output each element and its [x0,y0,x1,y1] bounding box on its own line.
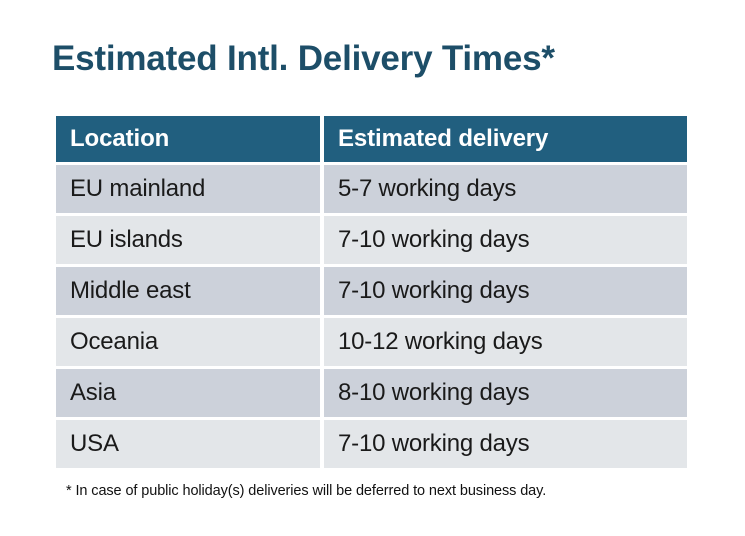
cell-location: Middle east [56,267,320,315]
cell-estimated-delivery: 8-10 working days [324,369,687,417]
cell-location: Oceania [56,318,320,366]
table-row: Middle east 7-10 working days [56,267,687,315]
column-header-location: Location [56,116,320,162]
column-header-estimated-delivery: Estimated delivery [324,116,687,162]
cell-location: USA [56,420,320,468]
table-row: Asia 8-10 working days [56,369,687,417]
cell-location: EU islands [56,216,320,264]
footnote: * In case of public holiday(s) deliverie… [66,482,546,500]
table-row: USA 7-10 working days [56,420,687,468]
table-body: EU mainland 5-7 working days EU islands … [56,165,687,468]
table-row: Oceania 10-12 working days [56,318,687,366]
cell-estimated-delivery: 7-10 working days [324,420,687,468]
cell-estimated-delivery: 7-10 working days [324,216,687,264]
page-title: Estimated Intl. Delivery Times* [52,38,555,80]
cell-estimated-delivery: 5-7 working days [324,165,687,213]
table-row: EU mainland 5-7 working days [56,165,687,213]
estimated-delivery-table: Location Estimated delivery EU mainland … [52,113,691,471]
cell-estimated-delivery: 7-10 working days [324,267,687,315]
table-header: Location Estimated delivery [56,116,687,162]
table-header-row: Location Estimated delivery [56,116,687,162]
cell-estimated-delivery: 10-12 working days [324,318,687,366]
cell-location: EU mainland [56,165,320,213]
delivery-times-page: Estimated Intl. Delivery Times* Location… [0,0,745,536]
cell-location: Asia [56,369,320,417]
table-row: EU islands 7-10 working days [56,216,687,264]
